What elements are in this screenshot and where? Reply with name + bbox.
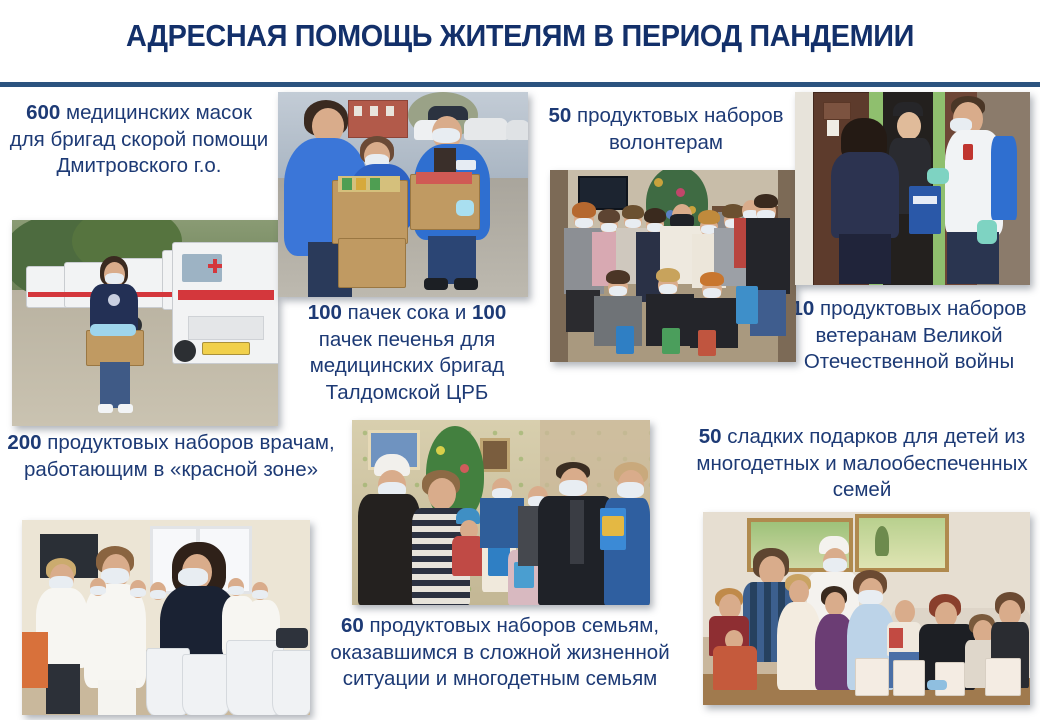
photo-family-gifts: [352, 420, 650, 605]
caption-juice-cookies-number-2: 100: [472, 301, 506, 324]
caption-masks-number: 600: [26, 101, 60, 124]
caption-juice-cookies: 100 пачек сока и 100 пачек печенья для м…: [282, 300, 532, 406]
page-title: АДРЕСНАЯ ПОМОЩЬ ЖИТЕЛЯМ В ПЕРИОД ПАНДЕМИ…: [36, 18, 1003, 54]
photo-ambulances: [12, 220, 278, 426]
caption-volunteers-food-number: 50: [548, 104, 571, 127]
photo-hospital-staff: [22, 520, 310, 715]
caption-juice-cookies-number: 100: [308, 301, 342, 324]
caption-veterans: 10 продуктовых наборов ветеранам Великой…: [780, 296, 1038, 376]
caption-red-zone-doctors: 200 продуктовых наборов врачам, работающ…: [6, 430, 336, 483]
caption-sweet-gifts-number: 50: [699, 425, 722, 448]
caption-juice-cookies-text-b: пачек печенья для медицинских бригад Тал…: [310, 328, 505, 404]
caption-families-hardship: 60 продуктовых наборов семьям, оказавшим…: [326, 613, 674, 693]
photo-group-newyear: [550, 170, 796, 362]
caption-volunteers-food-text: продуктовых наборов волонтерам: [571, 104, 783, 154]
slide-root: АДРЕСНАЯ ПОМОЩЬ ЖИТЕЛЯМ В ПЕРИОД ПАНДЕМИ…: [0, 0, 1040, 720]
caption-sweet-gifts: 50 сладких подарков для детей из многоде…: [690, 424, 1034, 504]
caption-families-hardship-number: 60: [341, 614, 364, 637]
caption-red-zone-doctors-text: продуктовых наборов врачам, работающим в…: [24, 431, 335, 481]
caption-veterans-text: продуктовых наборов ветеранам Великой От…: [804, 297, 1027, 373]
caption-volunteers-food: 50 продуктовых наборов волонтерам: [530, 103, 802, 156]
caption-juice-cookies-text-a: пачек сока и: [342, 301, 472, 324]
photo-volunteers-boxes: [278, 92, 528, 297]
caption-red-zone-doctors-number: 200: [7, 431, 41, 454]
caption-masks: 600 медицинских масок для бригад скорой …: [8, 100, 270, 180]
photo-large-family: [703, 512, 1030, 705]
header-divider: [0, 82, 1040, 87]
photo-doorway-delivery: [795, 92, 1030, 285]
caption-sweet-gifts-text: сладких подарков для детей из многодетны…: [696, 425, 1027, 501]
caption-families-hardship-text: продуктовых наборов семьям, оказавшимся …: [330, 614, 669, 690]
